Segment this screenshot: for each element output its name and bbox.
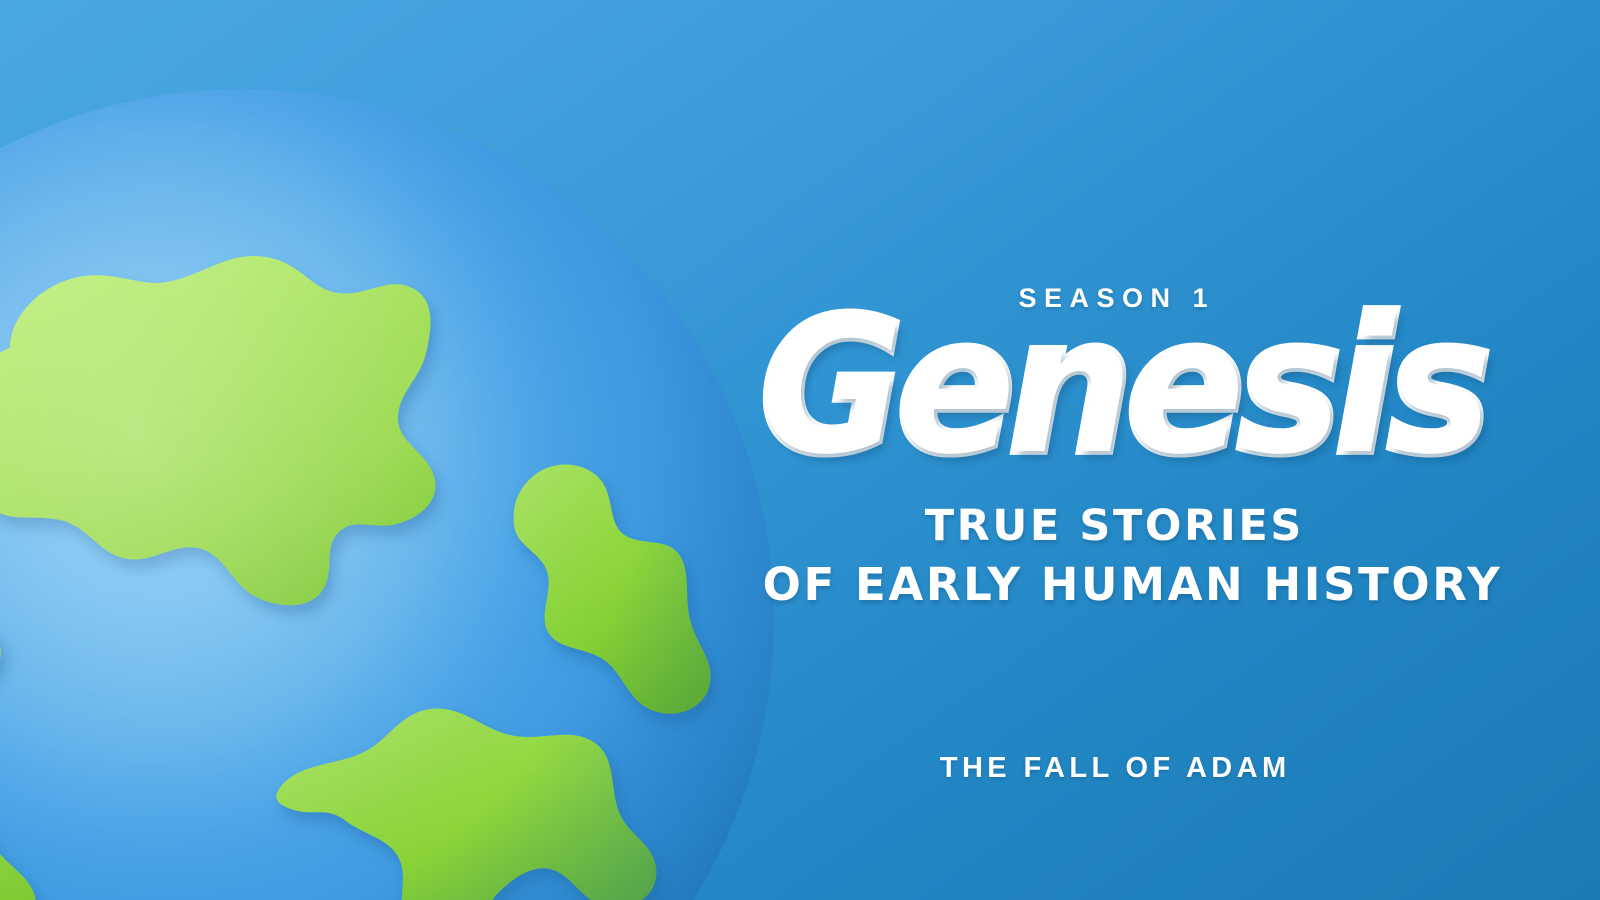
earth-globe-illustration <box>0 85 778 900</box>
globe-shading-overlay <box>0 89 774 900</box>
landmass-mid-left <box>0 531 1 740</box>
title-text-block: SEASON 1 Genesis TRUE STORIES OF EARLY H… <box>760 0 1466 900</box>
title-card: SEASON 1 Genesis TRUE STORIES OF EARLY H… <box>0 0 1600 900</box>
landmass-right-limb <box>514 465 711 714</box>
globe-ocean <box>0 89 774 900</box>
subtitle-line-1: TRUE STORIES <box>760 498 1466 555</box>
subtitle-line-2: OF EARLY HUMAN HISTORY <box>760 555 1466 615</box>
landmass-lower-right <box>276 709 656 900</box>
episode-title: THE FALL OF ADAM <box>760 752 1466 785</box>
subtitle: TRUE STORIES OF EARLY HUMAN HISTORY <box>760 498 1466 615</box>
landmass-bottom-left <box>0 764 36 900</box>
landmass-north-central <box>0 256 435 605</box>
page-title: Genesis <box>760 294 1466 481</box>
